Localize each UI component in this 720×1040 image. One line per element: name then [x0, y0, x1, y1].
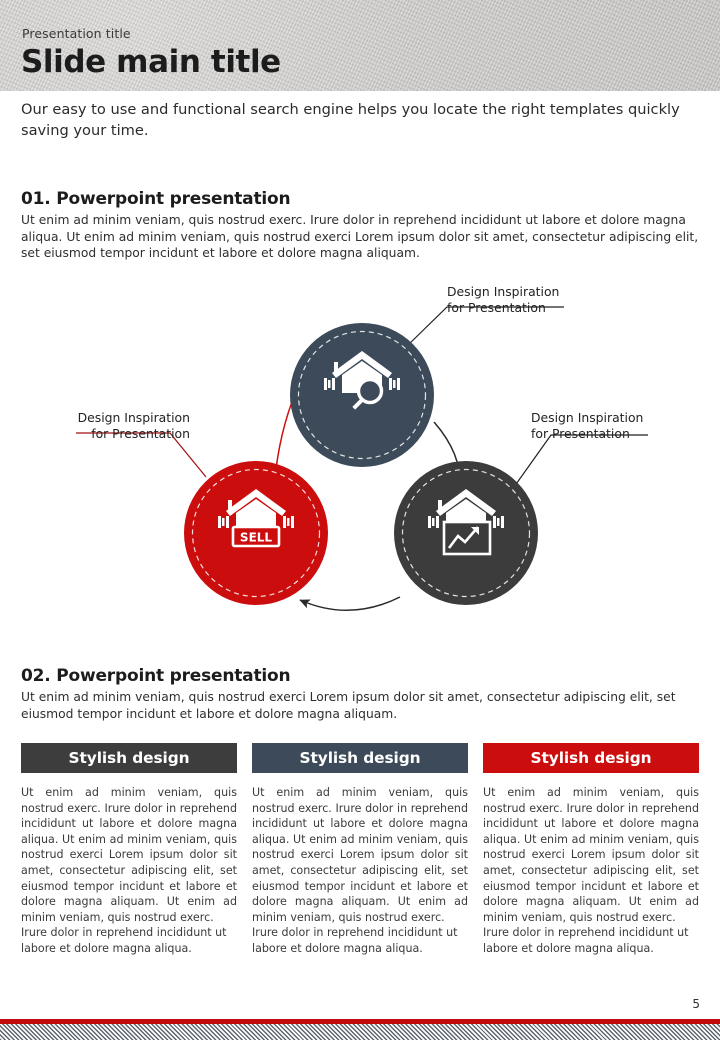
section-02-body: Ut enim ad minim veniam, quis nostrud ex… [21, 689, 703, 722]
page-title: Slide main title [21, 47, 281, 78]
section-01-title: 01. Powerpoint presentation [21, 189, 290, 209]
footer-hatch-pattern [0, 1024, 720, 1040]
callout-right: Design Inspiration for Presentation [531, 410, 643, 442]
cycle-diagram: SELL [0, 272, 720, 632]
column-3-heading: Stylish design [483, 743, 699, 773]
column-card-1: Stylish design Ut enim ad minim veniam, … [21, 743, 237, 957]
column-card-3: Stylish design Ut enim ad minim veniam, … [483, 743, 699, 957]
column-3-body: Ut enim ad minim veniam, quis nostrud ex… [483, 785, 699, 957]
column-2-heading: Stylish design [252, 743, 468, 773]
svg-text:SELL: SELL [240, 531, 272, 545]
page-number: 5 [692, 997, 700, 1011]
slide-canvas: Presentation title Slide main title Our … [0, 0, 720, 1040]
presentation-title-eyebrow: Presentation title [22, 26, 131, 41]
callout-top: Design Inspiration for Presentation [447, 284, 559, 316]
column-2-body: Ut enim ad minim veniam, quis nostrud ex… [252, 785, 468, 957]
diagram-node-left[interactable]: SELL [184, 461, 328, 605]
column-1-body: Ut enim ad minim veniam, quis nostrud ex… [21, 785, 237, 957]
diagram-node-right[interactable] [394, 461, 538, 605]
column-1-heading: Stylish design [21, 743, 237, 773]
column-card-2: Stylish design Ut enim ad minim veniam, … [252, 743, 468, 957]
callout-left: Design Inspiration for Presentation [76, 410, 190, 442]
slide-subtitle: Our easy to use and functional search en… [21, 99, 697, 141]
slide-header-band: Presentation title Slide main title [0, 0, 720, 91]
section-01-body: Ut enim ad minim veniam, quis nostrud ex… [21, 212, 703, 262]
diagram-node-top[interactable] [290, 323, 434, 467]
arrow-right-to-left [300, 597, 400, 610]
section-02-title: 02. Powerpoint presentation [21, 666, 290, 686]
cycle-diagram-svg: SELL [0, 272, 720, 632]
node-top-label: Top Quality Design [292, 640, 432, 670]
